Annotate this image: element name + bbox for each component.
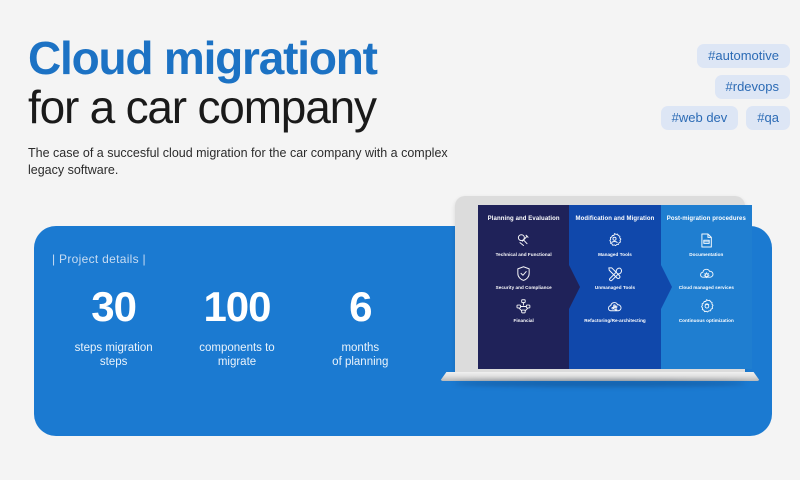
- slide-canvas: Cloud migrationt for a car company The c…: [0, 0, 800, 480]
- stat-number: 6: [299, 285, 422, 329]
- page-title: Cloud migrationt for a car company: [28, 34, 588, 132]
- phase-column-planning: Planning and Evaluation Technical and Fu…: [478, 205, 569, 369]
- tag-row-3: #web dev #qa: [590, 106, 790, 130]
- laptop-lid: Planning and Evaluation Technical and Fu…: [455, 196, 745, 376]
- cloud-gear-icon: [698, 265, 715, 282]
- phase-column-postmigration: Post-migration procedures Documentation: [661, 205, 752, 369]
- laptop-mockup: Planning and Evaluation Technical and Fu…: [440, 196, 760, 386]
- stat-label: components to migrate: [175, 341, 298, 369]
- phase-heading: Planning and Evaluation: [485, 215, 563, 223]
- tools-search-icon: [515, 232, 532, 249]
- phase-item: Unmanaged Tools: [569, 265, 660, 291]
- phase-heading: Modification and Migration: [573, 215, 658, 223]
- stat-number: 30: [52, 285, 175, 329]
- phase-item: Continuous optimization: [661, 298, 752, 324]
- phase-item-label: Managed Tools: [596, 252, 634, 258]
- screwdriver-wrench-icon: [606, 265, 623, 282]
- stat-item: 30 steps migration steps: [52, 285, 175, 369]
- tag-chip-web-dev[interactable]: #web dev: [661, 106, 739, 130]
- phase-item-label: Documentation: [687, 252, 725, 258]
- phase-item-label: Continuous optimization: [677, 318, 736, 324]
- phase-column-modification: Modification and Migration Managed Tools: [569, 205, 660, 369]
- laptop-screen: Planning and Evaluation Technical and Fu…: [478, 205, 752, 369]
- stat-item: 6 months of planning: [299, 285, 422, 369]
- phase-item-label: Technical and Functional: [494, 252, 554, 258]
- phase-item: Technical and Functional: [478, 232, 569, 258]
- tag-chip-qa[interactable]: #qa: [746, 106, 790, 130]
- tag-row-2: #rdevops: [590, 75, 790, 99]
- title-line-1: Cloud migrationt: [28, 34, 588, 82]
- gear-person-icon: [606, 232, 623, 249]
- phase-item-label: Financial: [511, 318, 535, 324]
- phase-item: Managed Tools: [569, 232, 660, 258]
- phase-item: Refactoring/Re-architecting: [569, 298, 660, 324]
- phase-item-label: Refactoring/Re-architecting: [582, 318, 648, 324]
- shield-check-icon: [515, 265, 532, 282]
- stat-label: steps migration steps: [52, 341, 175, 369]
- stat-number: 100: [175, 285, 298, 329]
- title-line-2: for a car company: [28, 82, 588, 132]
- tag-list: #automotive #rdevops #web dev #qa: [590, 44, 790, 137]
- gear-refresh-icon: [698, 298, 715, 315]
- phase-item: Security and Compliance: [478, 265, 569, 291]
- phase-item-label: Security and Compliance: [494, 285, 554, 291]
- stat-group: 30 steps migration steps 100 components …: [52, 285, 422, 369]
- finance-network-icon: [515, 298, 532, 315]
- tag-row-1: #automotive: [590, 44, 790, 68]
- phase-item: Documentation: [661, 232, 752, 258]
- tag-chip-automotive[interactable]: #automotive: [697, 44, 790, 68]
- document-icon: [698, 232, 715, 249]
- tag-chip-rdevops[interactable]: #rdevops: [715, 75, 790, 99]
- project-details-eyebrow: | Project details |: [52, 252, 146, 266]
- laptop-shadow: [454, 380, 746, 387]
- phase-heading: Post-migration procedures: [664, 215, 749, 223]
- phase-item: Cloud managed services: [661, 265, 752, 291]
- stat-item: 100 components to migrate: [175, 285, 298, 369]
- phase-item-label: Unmanaged Tools: [593, 285, 637, 291]
- stat-label: months of planning: [299, 341, 422, 369]
- phase-item: Financial: [478, 298, 569, 324]
- cloud-nodes-icon: [606, 298, 623, 315]
- phase-item-label: Cloud managed services: [677, 285, 736, 291]
- subtitle-text: The case of a succesful cloud migration …: [28, 145, 468, 179]
